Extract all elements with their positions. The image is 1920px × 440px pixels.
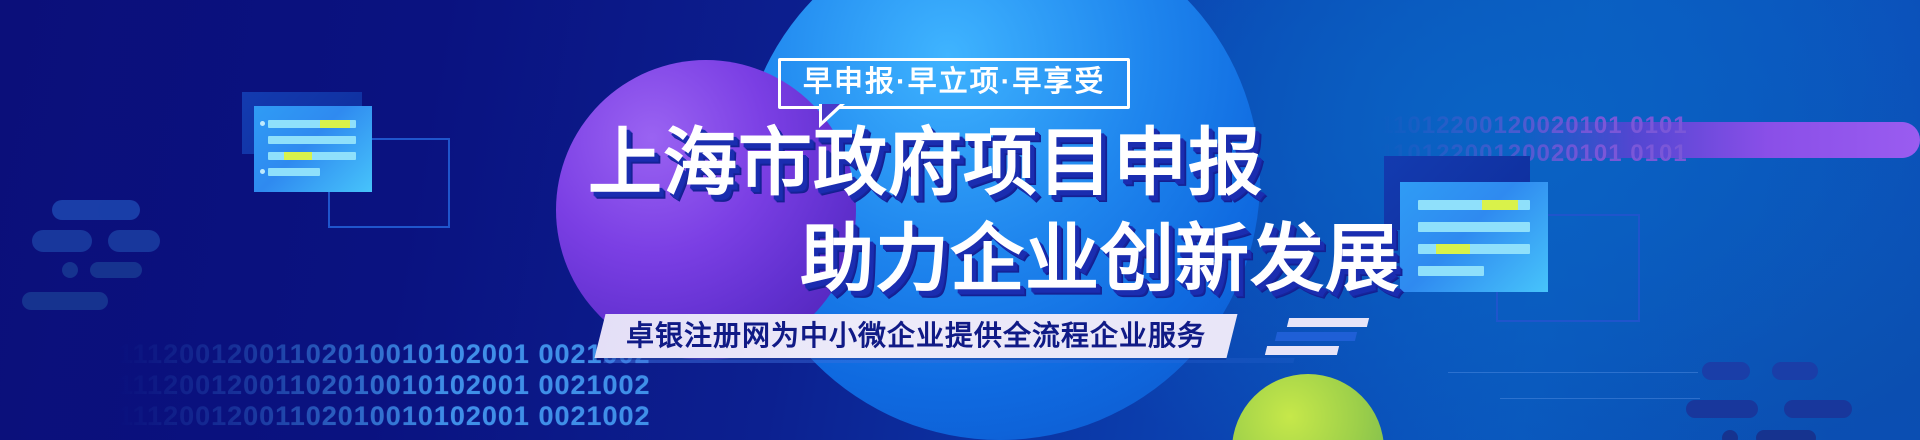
card-row-highlight [1436,244,1470,254]
card-row [268,152,356,160]
card-row [1418,244,1530,254]
ribbon-stripe [1265,346,1339,355]
hairline-right-lower [1500,398,1700,399]
document-card-right [1356,152,1646,352]
decor-dash [1756,430,1816,440]
card-front-panel [1400,182,1548,292]
decor-dash [22,292,108,310]
digit-line: 11120012001102010010102001 0021002 [118,401,651,432]
card-row-highlight [320,120,350,128]
ribbon-shadow [603,358,1294,363]
card-row-highlight [284,152,312,160]
decor-dash [1784,400,1852,418]
decor-dash [1702,362,1750,380]
card-row-highlight [1482,200,1518,210]
card-bullet-dot [260,169,265,174]
ribbon-stripe [1275,332,1357,341]
document-card-left [222,82,452,232]
decor-dash [1686,400,1758,418]
decor-dash [1772,362,1818,380]
promo-badge: 早申报·早立项·早享受 [778,58,1130,109]
badge-tail-inner-icon [822,104,840,121]
card-row [268,168,320,176]
green-sphere [1232,374,1384,440]
card-row [268,120,356,128]
digit-line: 11012200120020101 0101 [1380,112,1688,140]
card-row [1418,222,1530,232]
decor-dash [62,262,78,278]
promo-badge-text: 早申报·早立项·早享受 [803,68,1105,97]
card-row [1418,266,1484,276]
subtitle-ribbon: 卓银注册网为中小微企业提供全流程企业服务 [595,314,1238,358]
decor-dash [32,230,92,252]
digit-line: 11120012001102010010102001 0021002 [118,370,651,401]
decor-dash [1722,430,1738,440]
decor-dash [108,230,160,252]
card-front-panel [254,106,372,192]
decor-dash [90,262,142,278]
card-row [268,136,356,144]
digit-stream-bottom-left: 11120012001102010010102001 0021002 11120… [118,339,651,432]
subtitle-ribbon-text: 卓银注册网为中小微企业提供全流程企业服务 [626,322,1206,350]
promo-banner: 11012200120020101 0101 11012200120020101… [0,0,1920,440]
hairline-right-upper [1448,372,1698,373]
ribbon-stripe [1287,318,1369,327]
card-bullet-dot [260,121,265,126]
card-row [1418,200,1530,210]
digit-line: 11120012001102010010102001 0021002 [118,339,651,370]
decor-dash [98,200,138,220]
